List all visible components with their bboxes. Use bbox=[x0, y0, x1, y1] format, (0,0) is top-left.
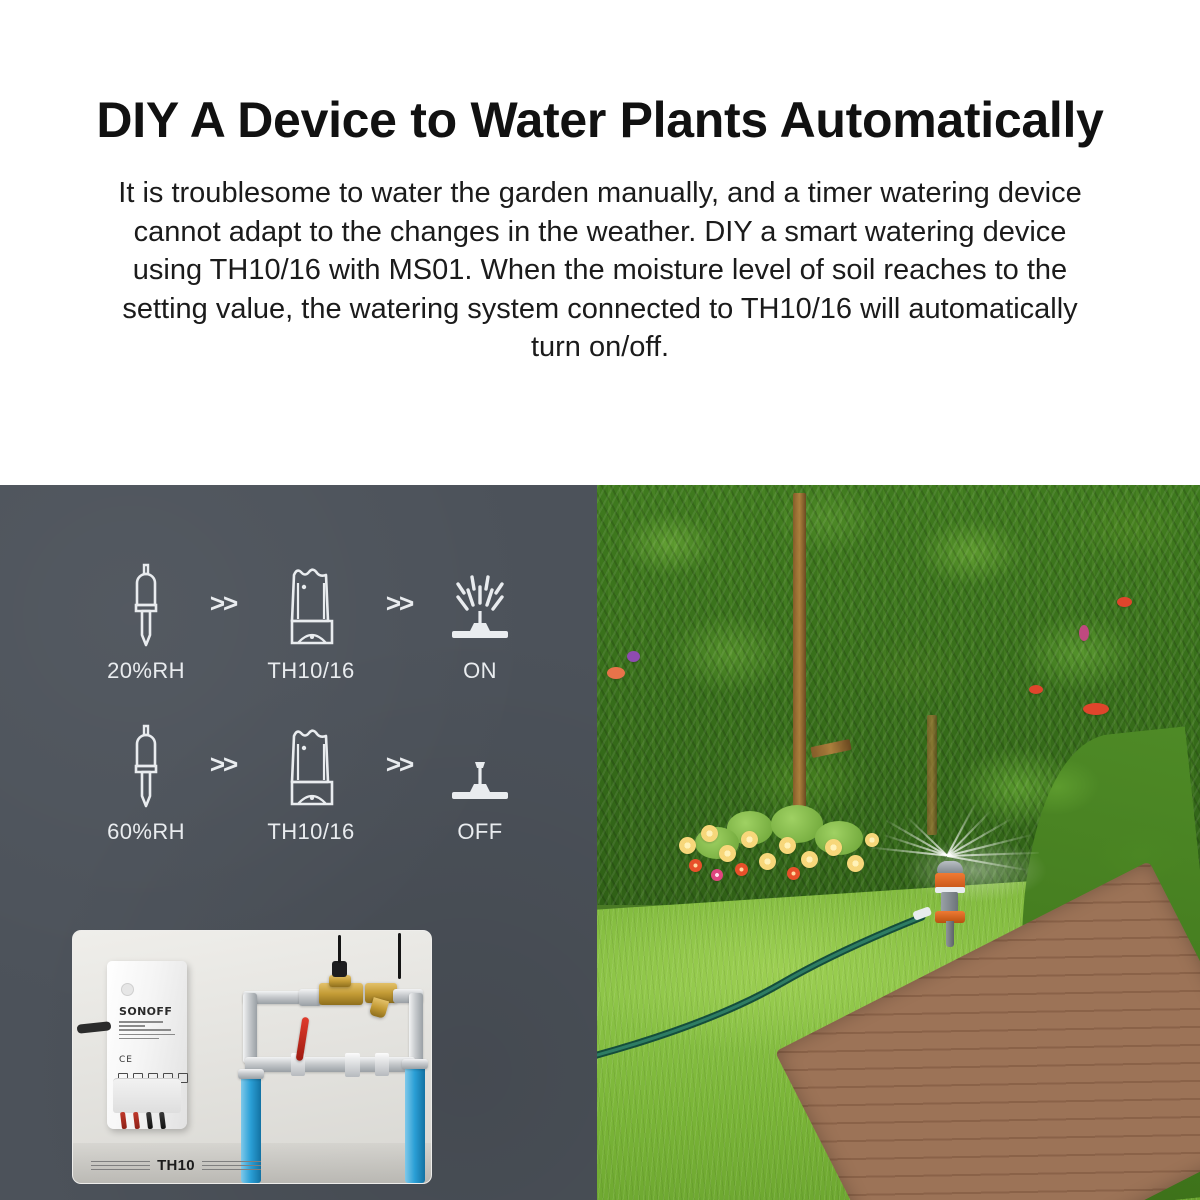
device-cell: TH10/16 bbox=[252, 557, 370, 684]
soil-moisture-probe-icon bbox=[123, 557, 169, 649]
soil-moisture-probe-icon bbox=[123, 718, 169, 810]
hedge-flower bbox=[1029, 685, 1043, 694]
hedge-flower bbox=[1083, 703, 1109, 715]
flower bbox=[719, 845, 736, 862]
flow-rows: 20%RH >> bbox=[0, 557, 597, 879]
certification-marks: CE bbox=[119, 1055, 133, 1065]
page-description: It is troublesome to water the garden ma… bbox=[96, 174, 1104, 367]
device-label: TH10/16 bbox=[267, 819, 354, 845]
hero-section: DIY A Device to Water Plants Automatical… bbox=[0, 0, 1200, 485]
water-mist bbox=[891, 817, 1091, 909]
flower bbox=[847, 855, 864, 872]
flower bbox=[787, 867, 800, 880]
sprinkler-spike bbox=[946, 921, 954, 947]
solenoid-wire bbox=[338, 935, 341, 963]
device-button bbox=[121, 983, 134, 996]
product-photo-inset: SONOFF CE bbox=[72, 930, 432, 1184]
hedge-flower bbox=[1117, 597, 1132, 607]
sensor-wire bbox=[398, 933, 401, 979]
flow-arrow-icon: >> bbox=[370, 718, 428, 818]
flower-bed bbox=[675, 803, 925, 913]
pipe-segment bbox=[245, 1057, 415, 1072]
sonoff-brand-label: SONOFF bbox=[119, 1005, 172, 1018]
hedge-flower bbox=[607, 667, 625, 679]
flow-row: 60%RH >> bbox=[0, 718, 597, 845]
flow-row: 20%RH >> bbox=[0, 557, 597, 684]
pipe-collar bbox=[402, 1059, 428, 1069]
caption-rule-right bbox=[202, 1161, 261, 1171]
sensor-label: 20%RH bbox=[107, 658, 185, 684]
strainer-bowl bbox=[369, 997, 389, 1019]
hedge-flower bbox=[1079, 625, 1089, 641]
state-cell: ON bbox=[428, 557, 532, 684]
flower bbox=[741, 831, 758, 848]
state-label: ON bbox=[463, 658, 497, 684]
wooden-post bbox=[927, 715, 937, 835]
wooden-post bbox=[793, 493, 806, 833]
inset-caption: TH10 bbox=[91, 1157, 261, 1174]
hedge-flower bbox=[627, 651, 640, 662]
device-label: TH10/16 bbox=[267, 658, 354, 684]
flower bbox=[865, 833, 879, 847]
terminal-cover bbox=[113, 1078, 181, 1113]
flower bbox=[759, 853, 776, 870]
flower bbox=[825, 839, 842, 856]
state-label: OFF bbox=[457, 819, 502, 845]
flower bbox=[779, 837, 796, 854]
wire-terminals bbox=[121, 1112, 165, 1129]
sensor-label: 60%RH bbox=[107, 819, 185, 845]
sprinkler-spraying-icon bbox=[443, 557, 517, 649]
state-cell: OFF bbox=[428, 718, 532, 845]
ball-valve-handle[interactable] bbox=[296, 1017, 310, 1062]
pipe-collar bbox=[238, 1069, 264, 1079]
sensor-cell: 60%RH bbox=[98, 718, 194, 845]
flow-arrow-icon: >> bbox=[194, 718, 252, 818]
sprinkler-idle-icon bbox=[443, 718, 517, 810]
flower bbox=[735, 863, 748, 876]
flower bbox=[801, 851, 818, 868]
th10-device-icon bbox=[280, 718, 342, 810]
flower bbox=[679, 837, 696, 854]
sensor-cell: 20%RH bbox=[98, 557, 194, 684]
page-title: DIY A Device to Water Plants Automatical… bbox=[96, 88, 1104, 152]
flower bbox=[689, 859, 702, 872]
flow-arrow-icon: >> bbox=[370, 557, 428, 657]
inset-caption-label: TH10 bbox=[157, 1157, 195, 1174]
flow-arrow-icon: >> bbox=[194, 557, 252, 657]
automation-diagram-panel: 20%RH >> bbox=[0, 485, 597, 1200]
pipe-union bbox=[345, 1053, 360, 1077]
device-cell: TH10/16 bbox=[252, 718, 370, 845]
sonoff-th10-device: SONOFF CE bbox=[107, 961, 187, 1129]
plumbing-assembly bbox=[233, 931, 431, 1183]
garden-photo bbox=[597, 485, 1200, 1200]
th10-device-icon bbox=[280, 557, 342, 649]
pipe-riser bbox=[243, 993, 257, 1063]
pipe-union bbox=[299, 989, 321, 1006]
caption-rule-left bbox=[91, 1161, 150, 1171]
pipe-union bbox=[375, 1053, 389, 1076]
content-panel: 20%RH >> bbox=[0, 485, 1200, 1200]
flower bbox=[701, 825, 718, 842]
device-spec-text bbox=[119, 1021, 179, 1042]
flower bbox=[711, 869, 723, 881]
solenoid-coil bbox=[332, 961, 347, 977]
pvc-pipe bbox=[405, 1061, 425, 1183]
